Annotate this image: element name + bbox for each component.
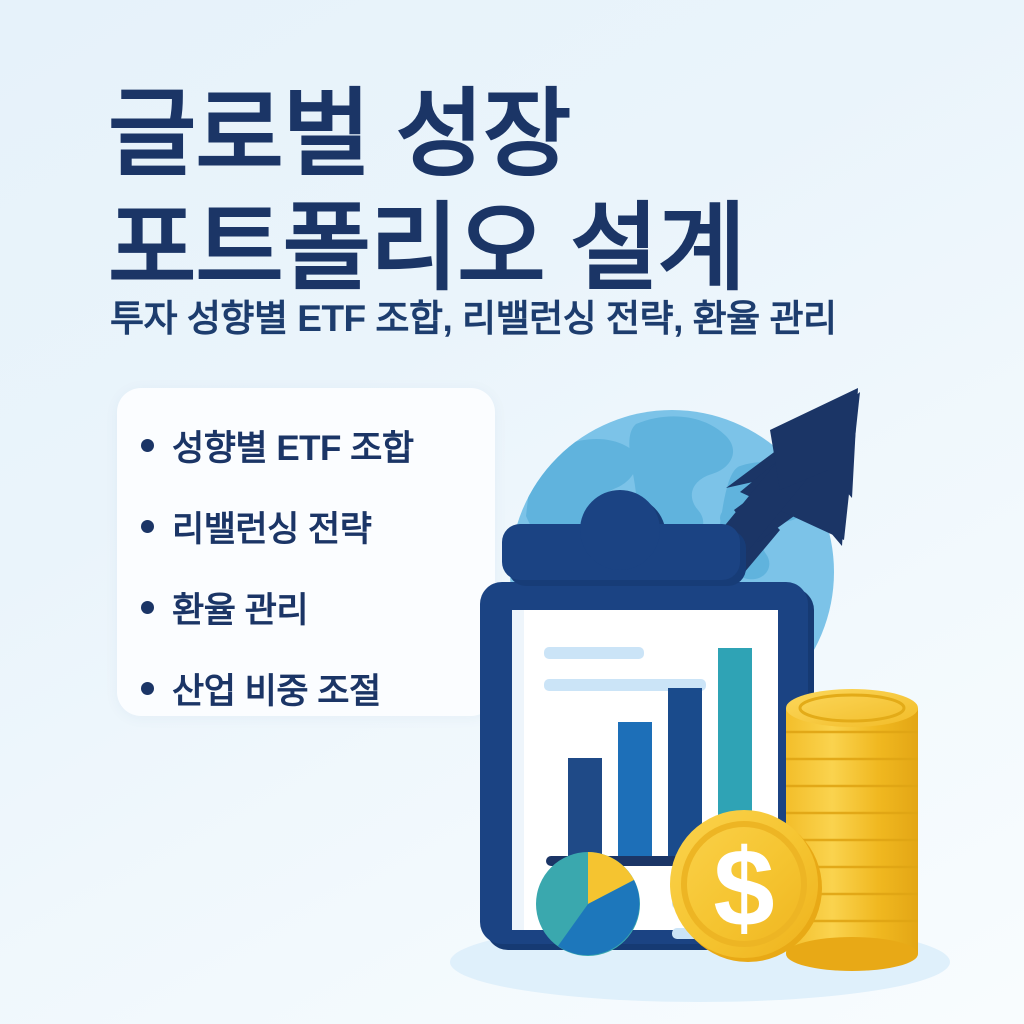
list-item-label: 성향별 ETF 조합 [172, 420, 414, 471]
list-item-label: 리밸런싱 전략 [172, 501, 371, 552]
page-subtitle: 투자 성향별 ETF 조합, 리밸런싱 전략, 환율 관리 [110, 288, 1010, 342]
page-title-line-1: 글로벌 성장 [108, 78, 988, 191]
bullet-dot-icon [141, 601, 154, 614]
list-item-label: 산업 비중 조절 [172, 663, 381, 714]
illustration: $ [440, 370, 1020, 1010]
list-item: 환율 관리 [141, 572, 485, 643]
bullet-dot-icon [141, 439, 154, 452]
feature-list: 성향별 ETF 조합 리밸런싱 전략 환율 관리 산업 비중 조절 [141, 410, 485, 706]
dollar-symbol: $ [713, 827, 774, 950]
feature-list-card: 성향별 ETF 조합 리밸런싱 전략 환율 관리 산업 비중 조절 [117, 388, 495, 716]
list-item: 산업 비중 조절 [141, 653, 485, 724]
bar-2 [618, 722, 652, 856]
paper-text-line [544, 647, 644, 659]
list-item: 성향별 ETF 조합 [141, 410, 485, 481]
list-item: 리밸런싱 전략 [141, 491, 485, 562]
bullet-dot-icon [141, 520, 154, 533]
pie-chart [536, 852, 640, 956]
poster-canvas: 글로벌 성장 포트폴리오 설계 투자 성향별 ETF 조합, 리밸런싱 전략, … [0, 0, 1024, 1024]
page-title: 글로벌 성장 포트폴리오 설계 [108, 78, 988, 305]
bar-1 [568, 758, 602, 856]
bullet-dot-icon [141, 682, 154, 695]
list-item-label: 환율 관리 [172, 582, 308, 633]
